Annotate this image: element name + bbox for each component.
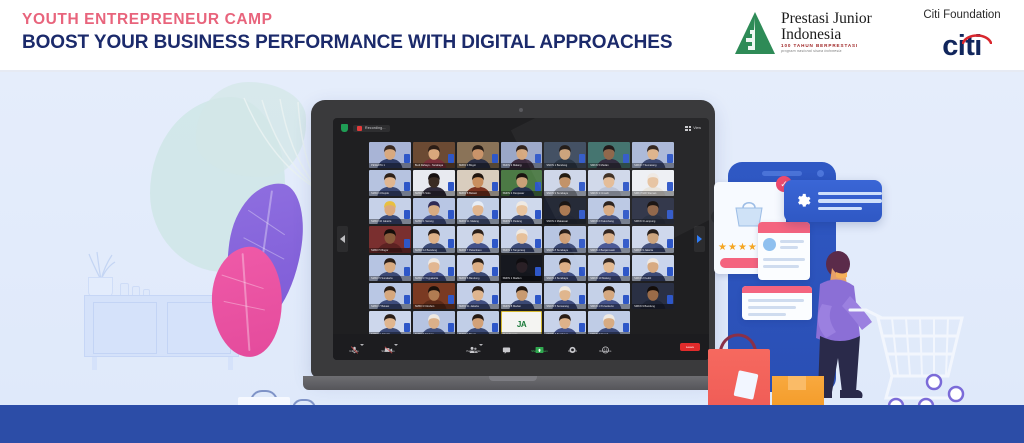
participant-name-label: SMKN 8 Surabaya [544, 248, 586, 253]
participant-name-label: SMKN 2 Banjarmasin [588, 248, 630, 253]
tile-watermark [623, 182, 629, 191]
participant-tile[interactable]: SMKN 12 Bandung [413, 226, 455, 252]
tile-watermark [623, 239, 629, 248]
tile-watermark [404, 295, 410, 304]
laptop-lid: Recording... View PESERTA 1Budi Rahayu -… [311, 100, 715, 378]
tile-watermark [667, 182, 673, 191]
view-button[interactable]: View [685, 126, 701, 131]
tile-watermark [535, 154, 541, 163]
participant-name-label: SMKN 5 Semarang [544, 304, 586, 309]
star-icon-3: ★ [738, 242, 747, 253]
tile-watermark [535, 267, 541, 276]
encryption-shield-icon[interactable] [341, 124, 348, 132]
tile-watermark [667, 154, 673, 163]
participant-name-label: SMKN 1 Bandung [544, 163, 586, 168]
toolbar-chat-button[interactable]: Chat [495, 341, 517, 354]
participant-name-label: SMKN 8 Medan [501, 304, 543, 309]
tile-watermark [492, 239, 498, 248]
participant-name-label: SMKN 6 Palembang [588, 219, 630, 224]
participant-name-label: SMKN 4 Surabaya [544, 276, 586, 281]
participant-tile[interactable]: SMK PGRI Sleman [632, 170, 674, 196]
potted-plant-leaves [86, 250, 116, 280]
plant-leaves-icon [86, 250, 116, 280]
participant-name-label: SMKN 7 Bekasi [369, 304, 411, 309]
tile-watermark [667, 295, 673, 304]
illustration-stage: Recording... View PESERTA 1Budi Rahayu -… [0, 72, 1024, 405]
tile-watermark [667, 267, 673, 276]
participant-name-label: SMKN 3 Cirebon [413, 304, 455, 309]
leave-meeting-button[interactable]: Leave [680, 343, 700, 351]
settings-line-3 [818, 207, 862, 211]
participant-tile[interactable]: SMKN 2 Makassar [544, 198, 586, 224]
tile-watermark [404, 210, 410, 219]
toolbar-center-group: ParticipantsChatShare ScreenRecordReacti… [462, 341, 616, 354]
tile-watermark [448, 295, 454, 304]
tile-watermark [492, 323, 498, 332]
toolbar-participants-button[interactable]: Participants [462, 341, 484, 354]
prev-page-button[interactable] [337, 226, 348, 252]
participant-name-label: SMKN 10 Malang [588, 276, 630, 281]
participants-icon [469, 341, 478, 349]
participant-tile[interactable]: SMKN 5 Semarang [544, 283, 586, 309]
participant-tile[interactable]: SMKN 9 Surabaya [544, 170, 586, 196]
tile-watermark [623, 267, 629, 276]
tile-watermark [535, 210, 541, 219]
participant-tile[interactable]: SMKN 1 Bandung [544, 142, 586, 168]
participant-tile[interactable]: SMKN 2 Denpasar [501, 170, 543, 196]
avatar [763, 238, 776, 251]
review-card-header [758, 222, 810, 233]
settings-card [784, 180, 882, 222]
participant-tile[interactable]: SMKN 8 Medan [501, 283, 543, 309]
participant-name-label: PESERTA 1 [369, 163, 411, 168]
participant-name-label: SMKN 8 Bekasi [457, 191, 499, 196]
review-line-1 [780, 240, 804, 243]
star-icon-2: ★ [728, 242, 737, 253]
gear-icon [794, 191, 811, 211]
participant-name-label: SMKN 6 Bandung [457, 276, 499, 281]
banner-header: YOUTH ENTREPRENEUR CAMP BOOST YOUR BUSIN… [0, 0, 1024, 72]
phone-camera-icon [817, 170, 824, 177]
tile-watermark [579, 267, 585, 276]
tile-watermark [492, 267, 498, 276]
participant-name-label: SMKN 11 Malang [457, 219, 499, 224]
participant-tile[interactable]: SMKN 1 Tangerang [501, 226, 543, 252]
chevron-down-icon[interactable] [394, 344, 398, 346]
share-screen-icon [535, 341, 544, 349]
tile-watermark [579, 154, 585, 163]
tile-watermark [579, 182, 585, 191]
pji-line-2: Indonesia [781, 27, 872, 43]
participant-name-label: SMKN 12 Bandung [413, 248, 455, 253]
participant-name-label: SMKN 2 Denpasar [501, 191, 543, 196]
participant-name-label: SMKN 1 Purwokerto [588, 304, 630, 309]
participant-name-label: SMKN 5 Surakarta [369, 276, 411, 281]
settings-line-2 [818, 199, 882, 203]
participant-name-label: SMKN 1 Madiun [501, 276, 543, 281]
tile-watermark [623, 323, 629, 332]
pji-mountain-icon [734, 10, 776, 56]
citi-foundation-label: Citi Foundation [912, 8, 1012, 23]
participant-tile[interactable]: SMKN 8 Surabaya [544, 226, 586, 252]
participant-tile[interactable]: SMKN 4 Depok [369, 170, 411, 196]
sideboard-leg-right [228, 357, 233, 370]
participant-name-label: SMKN 5 Medan [588, 163, 630, 168]
laptop-device: Recording... View PESERTA 1Budi Rahayu -… [303, 100, 723, 405]
participant-tile[interactable]: SMKN 6 Palembang [588, 198, 630, 224]
participant-name-label: SMKN 7 Semarang [632, 163, 674, 168]
citi-foundation-logo: Citi Foundation citi [912, 8, 1012, 61]
participant-name-label: SMKN 2 Makassar [544, 219, 586, 224]
white-shopping-bag-a [238, 397, 290, 405]
participant-tile[interactable]: SMKN 3 Bogor [457, 142, 499, 168]
tile-watermark [667, 239, 673, 248]
participant-tile[interactable]: SMKN 3 Lampung [632, 198, 674, 224]
participant-name-label: SMKN 2 Kediri [632, 276, 674, 281]
participant-tile[interactable]: SMKN 7 Semarang [632, 142, 674, 168]
participant-tile[interactable]: SMKN 4 Padang [501, 198, 543, 224]
participant-tile[interactable]: SMKN 7 Pekanbaru [457, 226, 499, 252]
tile-watermark [535, 295, 541, 304]
toolbar-share-screen-button[interactable]: Share Screen [528, 341, 550, 354]
tile-watermark [448, 182, 454, 191]
participant-tile[interactable]: SMKN 9 Bandung [632, 283, 674, 309]
tile-watermark [404, 239, 410, 248]
tile-watermark [404, 323, 410, 332]
participant-tile[interactable]: SMKN 10 Jakarta [369, 198, 411, 224]
tile-watermark [448, 154, 454, 163]
video-off-icon [384, 341, 393, 349]
settings-line-1 [818, 192, 882, 196]
star-icon-1: ★ [718, 242, 727, 253]
webcam-dot-icon [519, 108, 523, 112]
participant-tile[interactable]: SMKN 2 Kediri [632, 255, 674, 281]
star-icon-4: ★ [748, 242, 757, 253]
participant-tile[interactable]: SMKN 11 Malang [457, 198, 499, 224]
participant-tile[interactable]: SMKN 8 Bekasi [457, 170, 499, 196]
promo-banner-page: YOUTH ENTREPRENEUR CAMP BOOST YOUR BUSIN… [0, 0, 1024, 443]
participant-tile[interactable]: SMKN 6 Solo [413, 170, 455, 196]
participant-tile[interactable]: SMKN 1 Purwokerto [588, 283, 630, 309]
page-title: BOOST YOUR BUSINESS PERFORMANCE WITH DIG… [22, 30, 672, 56]
toolbar-microphone-muted-button[interactable]: Unmute [343, 341, 365, 354]
participant-tile[interactable]: SMKN 11 Jakarta [457, 283, 499, 309]
tile-watermark [492, 154, 498, 163]
participant-tile[interactable]: SMKN 9 Jakarta [632, 226, 674, 252]
participant-name-label: SMKN 1 Serang [413, 219, 455, 224]
citi-wordmark: citi [912, 31, 1012, 61]
toolbar-video-off-button[interactable]: Start Video [377, 341, 399, 354]
event-kicker: YOUTH ENTREPRENEUR CAMP [22, 10, 672, 30]
tile-watermark [448, 267, 454, 276]
zoom-topbar: Recording... View [333, 118, 709, 138]
tile-watermark [623, 295, 629, 304]
toolbar-record-button[interactable]: Record [561, 341, 583, 354]
tile-watermark [448, 210, 454, 219]
citi-arc-icon [962, 32, 992, 44]
reactions-icon [601, 341, 610, 349]
tile-watermark [448, 239, 454, 248]
tile-watermark [448, 323, 454, 332]
participant-tile[interactable]: PESERTA 1 [369, 142, 411, 168]
tile-watermark [667, 210, 673, 219]
participant-tile[interactable]: SMKN 7 Bekasi [369, 283, 411, 309]
participant-name-label: SMKN 3 Lampung [632, 219, 674, 224]
grid-view-icon [685, 126, 691, 131]
participant-name-label: SMKN 9 Bandung [632, 304, 674, 309]
participant-name-label: SMKN 7 Pekanbaru [457, 248, 499, 253]
view-button-label: View [693, 126, 701, 130]
tile-watermark [535, 182, 541, 191]
participant-tile[interactable]: SMKN 2 Banjarmasin [588, 226, 630, 252]
chevron-down-icon[interactable] [479, 344, 483, 346]
tile-watermark [404, 154, 410, 163]
chevron-left-icon [340, 235, 345, 243]
participant-name-label: SMKN 11 Jakarta [457, 304, 499, 309]
chevron-down-icon[interactable] [360, 344, 364, 346]
toolbar-left-group: UnmuteStart Video [343, 341, 399, 354]
settings-card-lines [818, 192, 882, 211]
participant-name-label: SMKN 9 Jakarta [632, 248, 674, 253]
participant-tile[interactable]: SMKN 3 Yogyakarta [413, 255, 455, 281]
participant-name-label: SMK PGRI Sleman [632, 191, 674, 196]
tile-watermark [579, 323, 585, 332]
pji-wordmark: Prestasi Junior Indonesia 100 TAHUN BERP… [781, 10, 872, 54]
participant-name-label: SMKN 3 Bogor [457, 163, 499, 168]
cart-wheel-3 [949, 387, 963, 401]
participant-tile[interactable]: SMKN 10 Malang [588, 255, 630, 281]
participant-name-label: Budi Rahayu - Surabaya [413, 163, 455, 168]
participant-tile[interactable]: SMKN 3 Cimahi [588, 170, 630, 196]
participant-name-label: SMKN 3 Cimahi [588, 191, 630, 196]
zoom-toolbar: UnmuteStart Video ParticipantsChatShare … [333, 334, 709, 360]
recording-indicator[interactable]: Recording... [353, 125, 390, 132]
footer-bar [0, 405, 1024, 443]
participant-name-label: SMKN 1 Tangerang [501, 248, 543, 253]
sideboard-leg-left [92, 357, 97, 370]
participant-name-label: SMKN 2 Malang [501, 163, 543, 168]
participant-name-label: SMKN 4 Padang [501, 219, 543, 224]
laptop-base-notch [489, 376, 537, 381]
tile-watermark [579, 239, 585, 248]
participant-name-label: SMKN 9 Surabaya [544, 191, 586, 196]
participant-tile[interactable]: SMKN 5 Medan [588, 142, 630, 168]
participant-tile[interactable]: SMKN 6 Bandung [457, 255, 499, 281]
tile-watermark [579, 210, 585, 219]
shopping-cart [848, 302, 970, 405]
secondary-line-2 [748, 306, 796, 309]
tile-watermark [492, 295, 498, 304]
participant-tile[interactable]: SMKN 5 Bogor [369, 226, 411, 252]
participant-name-label: SMKN 10 Jakarta [369, 219, 411, 224]
participant-tile[interactable]: SMKN 1 Madiun [501, 255, 543, 281]
tile-watermark [535, 239, 541, 248]
participant-name-label: SMKN 4 Depok [369, 191, 411, 196]
record-dot-icon [357, 126, 362, 131]
tile-watermark [404, 267, 410, 276]
tile-watermark [492, 210, 498, 219]
microphone-muted-icon [350, 341, 359, 349]
participant-tile[interactable]: SMKN 2 Malang [501, 142, 543, 168]
pink-leaf-vein-main [242, 253, 250, 351]
participant-tile[interactable]: SMKN 5 Surakarta [369, 255, 411, 281]
orange-parcel-box-right [772, 376, 824, 405]
participant-tile[interactable]: SMKN 1 Serang [413, 198, 455, 224]
laptop-screen: Recording... View PESERTA 1Budi Rahayu -… [333, 118, 709, 360]
plant-pot [88, 277, 113, 297]
participant-tile[interactable]: SMKN 3 Cirebon [413, 283, 455, 309]
record-icon [568, 341, 577, 349]
tile-watermark [492, 182, 498, 191]
cart-wheel-4 [927, 375, 941, 389]
pji-subtagline: program nasional siswa indonesia [781, 49, 872, 54]
participant-tile[interactable]: SMKN 4 Surabaya [544, 255, 586, 281]
pji-line-1: Prestasi Junior [781, 11, 872, 27]
participant-name-label: SMKN 6 Solo [413, 191, 455, 196]
chat-icon [502, 341, 511, 349]
ecommerce-illustration: ✓ ★ ★ ★ ★ ★ [700, 144, 1024, 405]
recording-label: Recording... [365, 126, 386, 130]
tile-watermark [623, 210, 629, 219]
participant-tile[interactable]: Budi Rahayu - Surabaya [413, 142, 455, 168]
tile-watermark [404, 182, 410, 191]
participant-name-label: SMKN 3 Yogyakarta [413, 276, 455, 281]
secondary-line-3 [748, 313, 786, 316]
toolbar-reactions-button[interactable]: Reactions [594, 341, 616, 354]
prestasi-junior-indonesia-logo: Prestasi Junior Indonesia 100 TAHUN BERP… [734, 10, 872, 56]
tile-watermark [623, 154, 629, 163]
tile-watermark [579, 295, 585, 304]
participant-grid[interactable]: PESERTA 1Budi Rahayu - SurabayaSMKN 3 Bo… [369, 142, 674, 337]
participant-name-label: SMKN 5 Bogor [369, 248, 411, 253]
header-titles: YOUTH ENTREPRENEUR CAMP BOOST YOUR BUSIN… [22, 10, 672, 56]
